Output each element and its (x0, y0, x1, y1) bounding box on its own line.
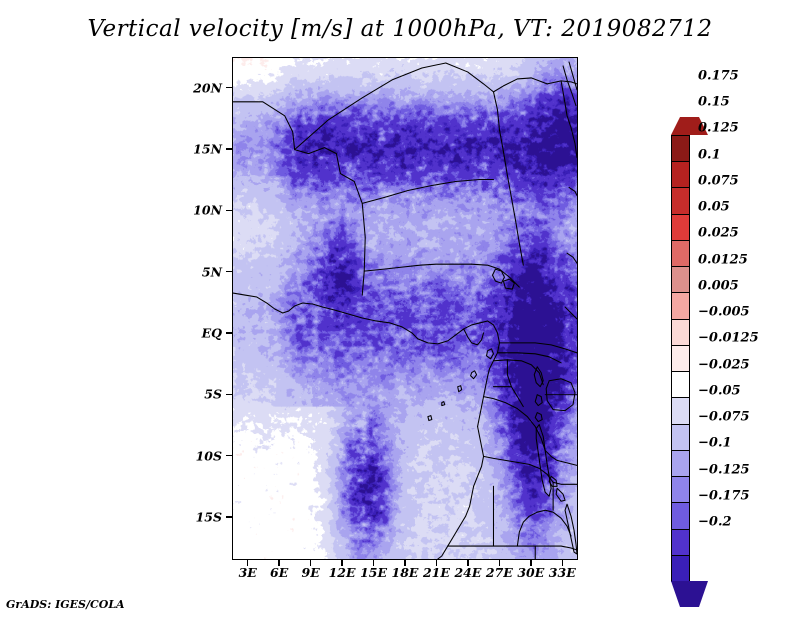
colorbar-tick-label: 0.075 (698, 173, 739, 188)
x-axis-label: 18E (392, 565, 419, 580)
colorbar-swatch (671, 345, 690, 373)
colorbar-swatch (671, 135, 690, 163)
colorbar-swatch (671, 450, 690, 478)
x-axis-label: 21E (423, 565, 450, 580)
y-axis-tick (226, 210, 232, 211)
colorbar-swatch (671, 240, 690, 268)
colorbar-tick-label: −0.125 (698, 462, 750, 477)
colorbar-swatch (671, 424, 690, 452)
footer-credit: GrADS: IGES/COLA (6, 598, 125, 611)
y-axis-label: 15N (184, 142, 222, 157)
colorbar-tick-label: 0.0125 (698, 252, 748, 267)
colorbar-tick-label: 0.025 (698, 226, 739, 241)
colorbar-arrow-bottom (671, 581, 708, 607)
y-axis-label: 15S (184, 510, 222, 525)
colorbar-tick-label: −0.005 (698, 305, 750, 320)
colorbar-swatch (671, 371, 690, 399)
page-title: Vertical velocity [m/s] at 1000hPa, VT: … (0, 16, 800, 42)
y-axis-label: 5S (184, 387, 222, 402)
colorbar-swatch (671, 476, 690, 504)
map-plot-area (232, 57, 578, 560)
colorbar-swatch (671, 292, 690, 320)
colorbar-tick-label: 0.175 (698, 69, 739, 84)
colorbar-tick-label: 0.125 (698, 121, 739, 136)
colorbar-tick-label: −0.05 (698, 383, 741, 398)
colorbar-swatch (671, 319, 690, 347)
x-axis-label: 15E (360, 565, 387, 580)
y-axis-tick (226, 516, 232, 517)
y-axis-label: 10N (184, 203, 222, 218)
x-axis-label: 30E (517, 565, 544, 580)
colorbar-swatch (671, 555, 690, 583)
colorbar-swatch (671, 529, 690, 557)
vertical-velocity-field (233, 58, 577, 559)
y-axis-tick (226, 332, 232, 333)
colorbar-tick-label: −0.0125 (698, 331, 759, 346)
colorbar-swatch (671, 161, 690, 189)
y-axis-label: 10S (184, 448, 222, 463)
colorbar-tick-label: 0.15 (698, 95, 730, 110)
y-axis-tick (226, 148, 232, 149)
y-axis-tick (226, 271, 232, 272)
colorbar-swatch (671, 187, 690, 215)
x-axis-label: 27E (486, 565, 513, 580)
y-axis-label: 20N (184, 80, 222, 95)
colorbar-tick-label: −0.2 (698, 515, 732, 530)
y-axis-tick (226, 455, 232, 456)
x-axis-label: 3E (239, 565, 257, 580)
colorbar-tick-label: −0.075 (698, 410, 750, 425)
x-axis-label: 6E (270, 565, 288, 580)
y-axis-tick (226, 394, 232, 395)
colorbar-tick-label: 0.005 (698, 278, 739, 293)
y-axis-tick (226, 87, 232, 88)
colorbar-tick-label: 0.05 (698, 200, 730, 215)
colorbar-swatch (671, 397, 690, 425)
x-axis-label: 24E (454, 565, 481, 580)
x-axis-label: 12E (329, 565, 356, 580)
colorbar-tick-label: −0.175 (698, 488, 750, 503)
colorbar-tick-label: 0.1 (698, 147, 721, 162)
y-axis-label: 5N (184, 264, 222, 279)
colorbar-tick-label: −0.1 (698, 436, 732, 451)
x-axis-label: 9E (302, 565, 320, 580)
colorbar (671, 59, 690, 559)
colorbar-tick-label: −0.025 (698, 357, 750, 372)
x-axis-label: 33E (549, 565, 576, 580)
colorbar-swatch (671, 266, 690, 294)
colorbar-swatch (671, 214, 690, 242)
colorbar-swatch (671, 502, 690, 530)
y-axis-label: EQ (184, 326, 222, 341)
